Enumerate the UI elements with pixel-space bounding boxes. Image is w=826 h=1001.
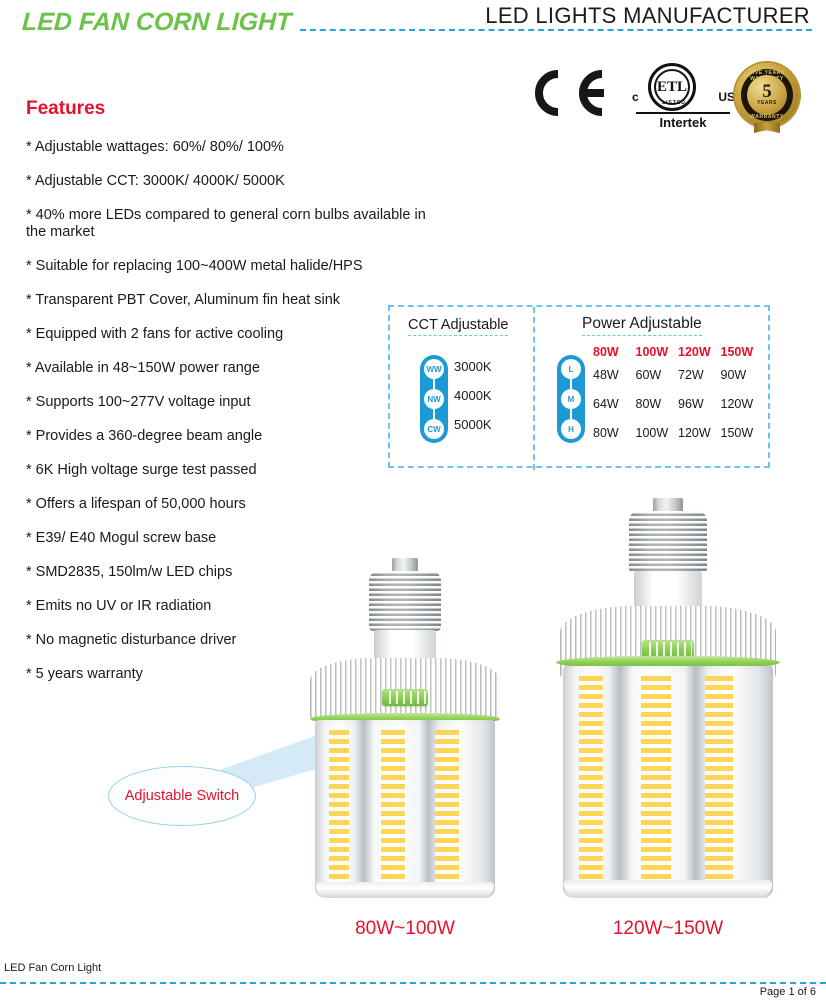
feature-item: * Offers a lifespan of 50,000 hours (26, 496, 386, 513)
bulb-bottom-ring (564, 880, 772, 898)
cct-adjustable-panel: CCT Adjustable WW NW CW 3000K 4000K 5000… (390, 307, 533, 466)
power-cell: 96W (678, 397, 721, 411)
power-table-row: 48W 60W 72W 90W (593, 360, 763, 389)
feature-item: * Supports 100~277V voltage input (26, 394, 386, 411)
footer-document-name: LED Fan Corn Light (4, 962, 101, 974)
power-cell: 72W (678, 368, 721, 382)
page-header: LED FAN CORN LIGHT LED LIGHTS MANUFACTUR… (0, 0, 826, 40)
power-cell: 120W (721, 397, 764, 411)
power-header-cell: 100W (636, 345, 679, 359)
warranty-seal-icon: FIVE YEARS WARRANTY 5 YEARS WARRANTY (732, 61, 802, 133)
power-cell: 90W (721, 368, 764, 382)
power-header-cell: 150W (721, 345, 764, 359)
feature-item: * Suitable for replacing 100~400W metal … (26, 258, 386, 275)
feature-item: * 6K High voltage surge test passed (26, 462, 386, 479)
header-divider (300, 29, 812, 31)
power-node-high: H (561, 419, 581, 439)
led-strip (329, 730, 349, 882)
feature-item: * Provides a 360-degree beam angle (26, 428, 386, 445)
seal-ribbon (754, 123, 780, 133)
power-panel-title: Power Adjustable (582, 315, 702, 336)
power-table-row: 64W 80W 96W 120W (593, 389, 763, 418)
bulb-contact-tip (392, 558, 418, 572)
power-cell: 48W (593, 368, 636, 382)
feature-item: * E39/ E40 Mogul screw base (26, 530, 386, 547)
bulb-led-body (315, 720, 495, 898)
bulb-screw-base (629, 511, 707, 573)
power-cell: 100W (636, 426, 679, 440)
led-strip (381, 730, 405, 882)
etl-listed-icon: c ETL LISTED US Intertek (630, 62, 735, 132)
product-image-80w-100w (305, 558, 505, 898)
manufacturer-tagline: LED LIGHTS MANUFACTURER (485, 3, 810, 29)
cct-switch-graphic: WW NW CW (420, 355, 448, 443)
cct-label-3000k: 3000K (454, 355, 524, 384)
feature-item: * Adjustable wattages: 60%/ 80%/ 100% (26, 139, 386, 156)
power-table: 80W 100W 120W 150W 48W 60W 72W 90W 64W 8… (593, 343, 763, 447)
seal-bottom-text: WARRANTY (735, 114, 799, 120)
power-adjustable-panel: Power Adjustable L M H 80W 100W 120W 150… (535, 307, 768, 466)
certification-logos: c ETL LISTED US Intertek FIVE YEARS WARR… (520, 60, 810, 140)
page-title: LED FAN CORN LIGHT (21, 8, 292, 37)
intertek-label: Intertek (636, 112, 730, 130)
feature-item: * Adjustable CCT: 3000K/ 4000K/ 5000K (26, 173, 386, 190)
feature-item: * Transparent PBT Cover, Aluminum fin he… (26, 292, 386, 309)
product-label-left: 80W~100W (305, 918, 505, 940)
cct-node-cw: CW (424, 419, 444, 439)
seal-number: 5 (762, 84, 772, 100)
features-heading: Features (26, 98, 105, 120)
cct-label-5000k: 5000K (454, 413, 524, 442)
product-label-right: 120W~150W (553, 918, 783, 940)
etl-listed-label: LISTED (652, 100, 696, 106)
seal-inner-disc: 5 YEARS (747, 75, 787, 115)
power-table-row: 80W 100W 120W 150W (593, 418, 763, 447)
bulb-contact-tip (653, 498, 683, 512)
seal-years-label: YEARS (757, 100, 777, 106)
cct-node-ww: WW (424, 359, 444, 379)
power-header-cell: 120W (678, 345, 721, 359)
adjustable-switch-left[interactable] (382, 689, 428, 706)
adjustable-switch-callout: Adjustable Switch (108, 766, 256, 826)
power-node-low: L (561, 359, 581, 379)
cct-panel-title: CCT Adjustable (408, 317, 508, 336)
feature-item: * 40% more LEDs compared to general corn… (26, 207, 446, 241)
etl-c-label: c (632, 90, 639, 104)
power-cell: 80W (593, 426, 636, 440)
power-node-medium: M (561, 389, 581, 409)
cct-label-list: 3000K 4000K 5000K (454, 355, 524, 442)
spec-panel: CCT Adjustable WW NW CW 3000K 4000K 5000… (388, 305, 770, 468)
feature-item: * Available in 48~150W power range (26, 360, 386, 377)
led-strip (705, 676, 733, 882)
power-cell: 150W (721, 426, 764, 440)
power-table-header-row: 80W 100W 120W 150W (593, 343, 763, 360)
bulb-neck (634, 571, 702, 611)
power-cell: 120W (678, 426, 721, 440)
bulb-screw-base (369, 571, 441, 631)
bulb-bottom-ring (316, 882, 494, 898)
led-strip (641, 676, 671, 882)
feature-item: * Equipped with 2 fans for active coolin… (26, 326, 386, 343)
ce-mark-icon (528, 70, 608, 116)
led-strip (579, 676, 603, 882)
led-strip (435, 730, 459, 882)
cct-node-nw: NW (424, 389, 444, 409)
bulb-led-body (563, 666, 773, 898)
footer-page-number: Page 1 of 6 (760, 986, 816, 998)
callout-label: Adjustable Switch (125, 788, 239, 804)
power-header-cell: 80W (593, 345, 636, 359)
power-cell: 80W (636, 397, 679, 411)
power-cell: 64W (593, 397, 636, 411)
power-switch-graphic: L M H (557, 355, 585, 443)
footer-divider (0, 982, 826, 984)
product-image-120w-150w (553, 498, 783, 898)
power-cell: 60W (636, 368, 679, 382)
cct-label-4000k: 4000K (454, 384, 524, 413)
